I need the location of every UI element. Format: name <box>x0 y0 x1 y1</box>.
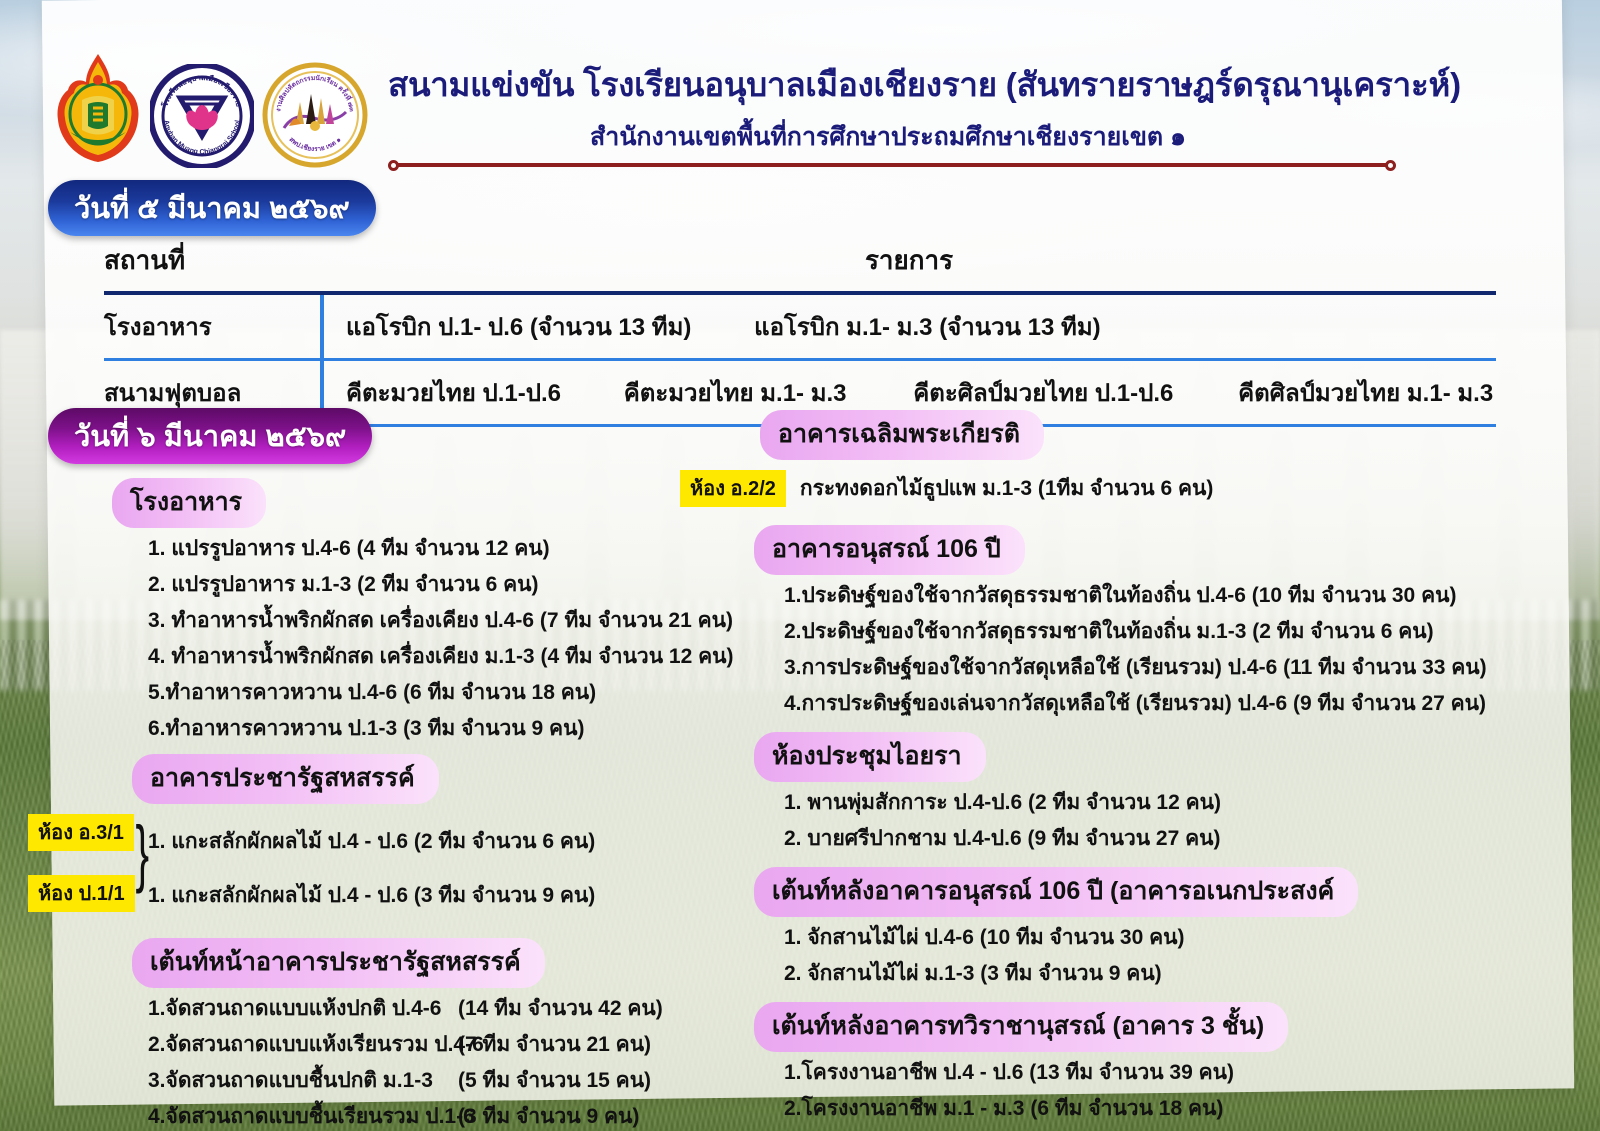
list-item: 2.จัดสวนถาดแบบแห้งเรียนรวม ป.4-6 (7 ทีม … <box>112 1034 752 1055</box>
list-item: 4.จัดสวนถาดแบบชื้นเรียนรวม ป.1-6 (3 ทีม … <box>112 1106 752 1127</box>
room-tag-column: ห้อง อ.3/1 ห้อง ป.1/1 <box>28 814 120 936</box>
section-items: 1. จักสานไม้ไผ่ ป.4-6 (10 ทีม จำนวน 30 ค… <box>748 927 1448 984</box>
list-item: 2. จักสานไม้ไผ่ ม.1-3 (3 ทีม จำนวน 9 คน) <box>748 963 1448 984</box>
list-item: 4. ทำอาหารน้ำพริกผักสด เครื่องเคียง ม.1-… <box>112 646 752 667</box>
date-badge-day2: วันที่ ๖ มีนาคม ๒๕๖๙ <box>48 408 372 464</box>
page-title: สนามแข่งขัน โรงเรียนอนุบาลเมืองเชียงราย … <box>388 58 1488 111</box>
row-place: โรงอาหาร <box>104 293 322 360</box>
room-tag: ห้อง อ.3/1 <box>28 814 134 851</box>
section-title: เต้นท์หลังอาคารทวิราชานุสรณ์ (อาคาร 3 ชั… <box>754 1002 1288 1052</box>
list-item: 2.ประดิษฐ์ของใช้จากวัสดุธรรมชาติในท้องถิ… <box>748 621 1448 642</box>
section-items: 1. แปรรูปอาหาร ป.4-6 (4 ทีม จำนวน 12 คน)… <box>112 538 752 739</box>
list-item-text: 3.จัดสวนถาดแบบชื้นปกติ ม.1-3 <box>148 1070 458 1091</box>
divider-bar <box>396 163 1388 167</box>
curly-brace-icon: } <box>136 816 150 890</box>
table-row: โรงอาหาร แอโรบิก ป.1- ป.6 (จำนวน 13 ทีม)… <box>104 293 1496 360</box>
section-title-wrap: เต้นท์หลังอาคารอนุสรณ์ 106 ปี (อาคารอเนก… <box>748 867 1448 917</box>
section-title-wrap: โรงอาหาร <box>112 478 752 528</box>
list-item: 3.การประดิษฐ์ของใช้จากวัสดุเหลือใช้ (เรี… <box>748 657 1448 678</box>
column-header-items: รายการ <box>322 240 1496 293</box>
list-item-count: (7 ทีม จำนวน 21 คน) <box>458 1034 651 1055</box>
day2-left-column: โรงอาหาร 1. แปรรูปอาหาร ป.4-6 (4 ทีม จำน… <box>112 478 752 1131</box>
event-item: คีตศิลป์มวยไทย ม.1- ม.3 <box>1238 373 1493 412</box>
section-title: อาคารประชารัฐสหสรรค์ <box>132 754 439 804</box>
section-title-wrap: ห้องประชุมไอยรา <box>748 732 1448 782</box>
section-aiyara-meeting-room: ห้องประชุมไอยรา 1. พานพุ่มสักการะ ป.4-ป.… <box>748 732 1448 849</box>
infographic-poster: โรงเรียนอนุบาลเมืองเชียงราย Anuban Muang… <box>0 0 1600 1131</box>
row-items: แอโรบิก ป.1- ป.6 (จำนวน 13 ทีม) แอโรบิก … <box>322 293 1496 360</box>
list-item: 2. แปรรูปอาหาร ม.1-3 (2 ทีม จำนวน 6 คน) <box>112 574 752 595</box>
list-item-count: (3 ทีม จำนวน 9 คน) <box>458 1106 639 1127</box>
section-title: เต้นท์หน้าอาคารประชารัฐสหสรรค์ <box>132 938 545 988</box>
section-items: 1.ประดิษฐ์ของใช้จากวัสดุธรรมชาติในท้องถิ… <box>748 585 1448 714</box>
section-title-wrap: อาคารเฉลิมพระเกียรติ <box>748 410 1448 460</box>
list-item: 1. แกะสลักผักผลไม้ ป.4 - ป.6 (2 ทีม จำนว… <box>148 831 595 852</box>
list-item: 1.ประดิษฐ์ของใช้จากวัสดุธรรมชาติในท้องถิ… <box>748 585 1448 606</box>
list-item-text: 4.จัดสวนถาดแบบชื้นเรียนรวม ป.1-6 <box>148 1106 458 1127</box>
list-item: 3.จัดสวนถาดแบบชื้นปกติ ม.1-3 (5 ทีม จำนว… <box>112 1070 752 1091</box>
divider-dot-right <box>1385 160 1396 171</box>
header-divider <box>388 160 1396 170</box>
list-item-count: (14 ทีม จำนวน 42 คน) <box>458 998 663 1019</box>
list-item-text: 1.จัดสวนถาดแบบแห้งปกติ ป.4-6 <box>148 998 458 1019</box>
student-art-competition-logo: งานศิลปหัตถกรรมนักเรียน ครั้งที่ ๗๓ สพป.… <box>262 62 368 168</box>
list-item: 4.การประดิษฐ์ของเล่นจากวัสดุเหลือใช้ (เร… <box>748 693 1448 714</box>
list-item: กระทงดอกไม้ธูปแพ ม.1-3 (1ทีม จำนวน 6 คน) <box>800 478 1214 499</box>
section-canteen: โรงอาหาร 1. แปรรูปอาหาร ป.4-6 (4 ทีม จำน… <box>112 478 752 739</box>
section-anusorn-106-building: อาคารอนุสรณ์ 106 ปี 1.ประดิษฐ์ของใช้จากว… <box>748 525 1448 714</box>
list-item-text: 2.จัดสวนถาดแบบแห้งเรียนรวม ป.4-6 <box>148 1034 458 1055</box>
list-item: 5.ทำอาหารคาวหวาน ป.4-6 (6 ทีม จำนวน 18 ค… <box>112 682 752 703</box>
braced-row: 1. แกะสลักผักผลไม้ ป.4 - ป.6 (2 ทีม จำนว… <box>148 814 752 868</box>
section-tent-behind-thawirachanusorn: เต้นท์หลังอาคารทวิราชานุสรณ์ (อาคาร 3 ชั… <box>748 1002 1448 1119</box>
list-item: 6.ทำอาหารคาวหวาน ป.1-3 (3 ทีม จำนวน 9 คน… <box>112 718 752 739</box>
event-item: คีตะมวยไทย ม.1- ม.3 <box>624 373 847 412</box>
poster-header: โรงเรียนอนุบาลเมืองเชียงราย Anuban Muang… <box>0 22 1600 162</box>
section-items: 1. พานพุ่มสักการะ ป.4-ป.6 (2 ทีม จำนวน 1… <box>748 792 1448 849</box>
day2-right-column: อาคารเฉลิมพระเกียรติ ห้อง อ.2/2 กระทงดอก… <box>748 410 1448 1131</box>
section-title: อาคารเฉลิมพระเกียรติ <box>760 410 1044 460</box>
event-item: คีตะมวยไทย ป.1-ป.6 <box>346 373 561 412</box>
section-items: 1.โครงงานอาชีพ ป.4 - ป.6 (13 ทีม จำนวน 3… <box>748 1062 1448 1119</box>
schedule-table-day1: สถานที่ รายการ โรงอาหาร แอโรบิก ป.1- ป.6… <box>104 240 1496 427</box>
room-tag: ห้อง อ.2/2 <box>680 470 786 507</box>
section-title-wrap: เต้นท์หลังอาคารทวิราชานุสรณ์ (อาคาร 3 ชั… <box>748 1002 1448 1052</box>
event-item: แอโรบิก ป.1- ป.6 (จำนวน 13 ทีม) <box>346 307 691 346</box>
table-header-row: สถานที่ รายการ <box>104 240 1496 293</box>
column-header-place: สถานที่ <box>104 240 322 293</box>
list-item-count: (5 ทีม จำนวน 15 คน) <box>458 1070 651 1091</box>
tagged-item-row: ห้อง อ.2/2 กระทงดอกไม้ธูปแพ ม.1-3 (1ทีม … <box>748 470 1448 507</box>
braced-room-group: ห้อง อ.3/1 ห้อง ป.1/1 } 1. แกะสลักผักผลไ… <box>112 814 752 922</box>
anuban-muang-chiangrai-school-logo: โรงเรียนอนุบาลเมืองเชียงราย Anuban Muang… <box>150 64 254 168</box>
garuda-emblem-logo <box>48 52 148 164</box>
section-title: เต้นท์หลังอาคารอนุสรณ์ 106 ปี (อาคารอเนก… <box>754 867 1358 917</box>
list-item: 1. พานพุ่มสักการะ ป.4-ป.6 (2 ทีม จำนวน 1… <box>748 792 1448 813</box>
list-item: 1. จักสานไม้ไผ่ ป.4-6 (10 ทีม จำนวน 30 ค… <box>748 927 1448 948</box>
event-item: คีตะศิลป์มวยไทย ป.1-ป.6 <box>913 373 1173 412</box>
section-tent-behind-anusorn-106: เต้นท์หลังอาคารอนุสรณ์ 106 ปี (อาคารอเนก… <box>748 867 1448 984</box>
event-item: แอโรบิก ม.1- ม.3 (จำนวน 13 ทีม) <box>754 307 1101 346</box>
section-title-wrap: อาคารอนุสรณ์ 106 ปี <box>748 525 1448 575</box>
list-item: 1. แกะสลักผักผลไม้ ป.4 - ป.6 (3 ทีม จำนว… <box>148 885 595 906</box>
section-title: โรงอาหาร <box>112 478 266 528</box>
date-badge-day1: วันที่ ๕ มีนาคม ๒๕๖๙ <box>48 180 376 236</box>
section-prachalat-building: อาคารประชารัฐสหสรรค์ ห้อง อ.3/1 ห้อง ป.1… <box>112 754 752 922</box>
list-item: 1. แปรรูปอาหาร ป.4-6 (4 ทีม จำนวน 12 คน) <box>112 538 752 559</box>
list-item: 2. บายศรีปากชาม ป.4-ป.6 (9 ทีม จำนวน 27 … <box>748 828 1448 849</box>
list-item: 2.โครงงานอาชีพ ม.1 - ม.3 (6 ทีม จำนวน 18… <box>748 1098 1448 1119</box>
section-chalermphrakiat-building: อาคารเฉลิมพระเกียรติ ห้อง อ.2/2 กระทงดอก… <box>748 410 1448 507</box>
section-title-wrap: เต้นท์หน้าอาคารประชารัฐสหสรรค์ <box>112 938 752 988</box>
braced-row: 1. แกะสลักผักผลไม้ ป.4 - ป.6 (3 ทีม จำนว… <box>148 868 752 922</box>
list-item: 1.จัดสวนถาดแบบแห้งปกติ ป.4-6 (14 ทีม จำน… <box>112 998 752 1019</box>
section-tent-front-prachalat: เต้นท์หน้าอาคารประชารัฐสหสรรค์ 1.จัดสวนถ… <box>112 938 752 1131</box>
section-title-wrap: อาคารประชารัฐสหสรรค์ <box>112 754 752 804</box>
page-subtitle: สำนักงานเขตพื้นที่การศึกษาประถมศึกษาเชีย… <box>388 117 1388 157</box>
list-item: 3. ทำอาหารน้ำพริกผักสด เครื่องเคียง ป.4-… <box>112 610 752 631</box>
section-title: อาคารอนุสรณ์ 106 ปี <box>754 525 1025 575</box>
room-tag: ห้อง ป.1/1 <box>28 875 135 912</box>
list-item: 1.โครงงานอาชีพ ป.4 - ป.6 (13 ทีม จำนวน 3… <box>748 1062 1448 1083</box>
section-items: 1.จัดสวนถาดแบบแห้งปกติ ป.4-6 (14 ทีม จำน… <box>112 998 752 1131</box>
section-title: ห้องประชุมไอยรา <box>754 732 986 782</box>
